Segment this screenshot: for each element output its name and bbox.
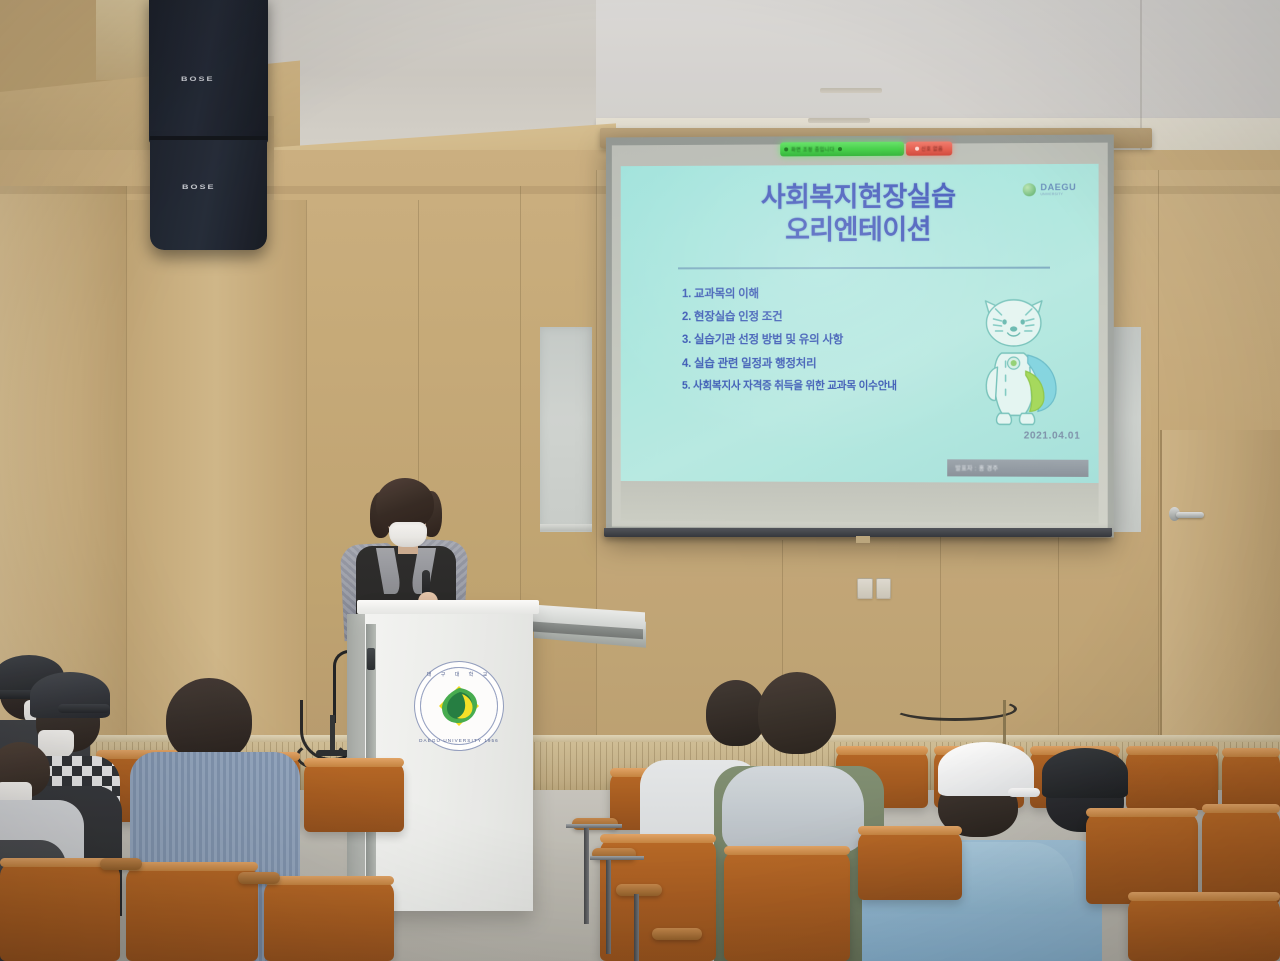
emblem-english-text: DAEGU UNIVERSITY 1956 [415, 738, 503, 743]
agenda-item: 4. 실습 관련 일정과 행정처리 [682, 353, 1012, 376]
wall-seam [126, 186, 127, 790]
door-handle[interactable] [1176, 512, 1204, 518]
mic-base [316, 750, 350, 756]
bose-speaker-upper: BOSE [149, 0, 268, 144]
seat-rail [590, 856, 644, 860]
slide-agenda-list: 1. 교과목의 이해 2. 현장실습 인정 조건 3. 실습기관 선정 방법 및… [682, 283, 1012, 398]
seat-top-rail [600, 834, 716, 843]
auditorium-seat[interactable] [264, 880, 394, 961]
seat-top-rail [836, 746, 928, 755]
audience-member-head [166, 678, 252, 762]
auditorium-seat[interactable] [1202, 808, 1280, 904]
agenda-item: 1. 교과목의 이해 [682, 283, 1012, 307]
slide-divider [678, 267, 1050, 270]
osd-indicator-dot [915, 147, 919, 151]
auditorium-seat[interactable] [1128, 896, 1280, 961]
baseball-cap [1042, 748, 1128, 798]
auditorium-seat[interactable] [0, 862, 120, 961]
ceiling-light-slot [808, 118, 870, 123]
floor-cable [893, 697, 1017, 721]
osd-green-segment: 화면 조정 중입니다 [780, 142, 904, 157]
projection-screen: 화면 조정 중입니다 신호 없음 DAEGU UNIVERSITY 사회복지현장… [606, 135, 1114, 538]
wall-acoustic-panel-left [540, 327, 592, 532]
seat-rail [566, 824, 622, 828]
agenda-item: 3. 실습기관 선정 방법 및 유의 사항 [682, 329, 1012, 352]
seat-armrest [238, 872, 280, 884]
seat-leg [634, 894, 639, 961]
slide-date: 2021.04.01 [1024, 430, 1081, 441]
slide-credit-box: 발표자 : 홍 경주 [947, 459, 1088, 477]
seat-armrest [100, 858, 142, 870]
agenda-item: 2. 현장실습 인정 조건 [682, 306, 1012, 329]
slide-title-line2: 오리엔테이션 [621, 213, 1099, 247]
seat-top-rail [1126, 746, 1218, 755]
seat-top-rail [1086, 808, 1198, 817]
seat-leg [606, 858, 611, 954]
projector-osd-bar: 화면 조정 중입니다 신호 없음 [780, 140, 952, 157]
face-mask-icon [389, 522, 427, 547]
osd-indicator-dot [784, 147, 788, 151]
osd-red-label: 신호 없음 [921, 145, 943, 152]
wall-panel-base [540, 524, 592, 531]
seat-top-rail [1202, 804, 1280, 813]
presentation-slide: DAEGU UNIVERSITY 사회복지현장실습 오리엔테이션 1. 교과목의… [621, 164, 1099, 483]
emblem-korean-text: 대 구 대 학 교 [415, 671, 503, 678]
seat-armrest [652, 928, 702, 940]
auditorium-seat[interactable] [1222, 750, 1280, 812]
lecture-hall-photo: BOSE BOSE 화면 조정 중입니다 신호 없음 DAE [0, 0, 1280, 961]
seat-top-rail [304, 758, 404, 767]
emblem-leaf-icon [436, 683, 482, 729]
bose-logo: BOSE [182, 184, 216, 191]
auditorium-seat[interactable] [1126, 748, 1218, 810]
screen-pull-tab [856, 536, 870, 543]
mic-stand [330, 715, 335, 755]
seat-top-rail [264, 876, 394, 885]
wall-outlet[interactable] [857, 578, 873, 599]
osd-green-label: 화면 조정 중입니다 [791, 146, 834, 153]
seat-top-rail [126, 862, 258, 871]
seat-top-rail [858, 826, 962, 835]
cap-brim [1008, 788, 1040, 797]
agenda-item: 5. 사회복지사 자격증 취득을 위한 교과목 이수안내 [682, 376, 1012, 398]
auditorium-seat[interactable] [1086, 812, 1198, 904]
slide-credit-text: 발표자 : 홍 경주 [955, 463, 998, 472]
wall-outlet[interactable] [876, 578, 891, 599]
bose-logo: BOSE [181, 76, 215, 83]
auditorium-seat[interactable] [304, 760, 404, 832]
slide-title: 사회복지현장실습 오리엔테이션 [621, 180, 1099, 248]
auditorium-seat[interactable] [724, 850, 850, 961]
wall-seam [596, 170, 597, 790]
cap-brim [58, 704, 110, 713]
auditorium-seat[interactable] [858, 830, 962, 900]
university-emblem: 대 구 대 학 교 DAEGU UNIVERSITY 1956 [414, 661, 504, 751]
wall-seam [1158, 170, 1159, 790]
ceiling-light-slot [820, 88, 882, 93]
seat-armrest [616, 884, 662, 896]
audience-member-head [706, 680, 766, 746]
slide-title-line1: 사회복지현장실습 [621, 180, 1099, 215]
screen-lower-blank [621, 481, 1099, 523]
tiger-mascot-icon [971, 293, 1064, 429]
audience-member-head [758, 672, 836, 754]
seat-top-rail [1128, 892, 1280, 901]
seat-leg [584, 828, 589, 924]
ceiling-soffit [96, 0, 156, 80]
osd-indicator-dot [838, 147, 842, 151]
seat-top-rail [1222, 748, 1280, 757]
seat-top-rail [724, 846, 850, 855]
hoodie-hood [722, 766, 864, 852]
bose-speaker-lower: BOSE [150, 140, 267, 250]
osd-red-segment: 신호 없음 [906, 141, 952, 155]
lectern-buttons[interactable] [367, 648, 375, 670]
lectern-top [357, 600, 539, 614]
